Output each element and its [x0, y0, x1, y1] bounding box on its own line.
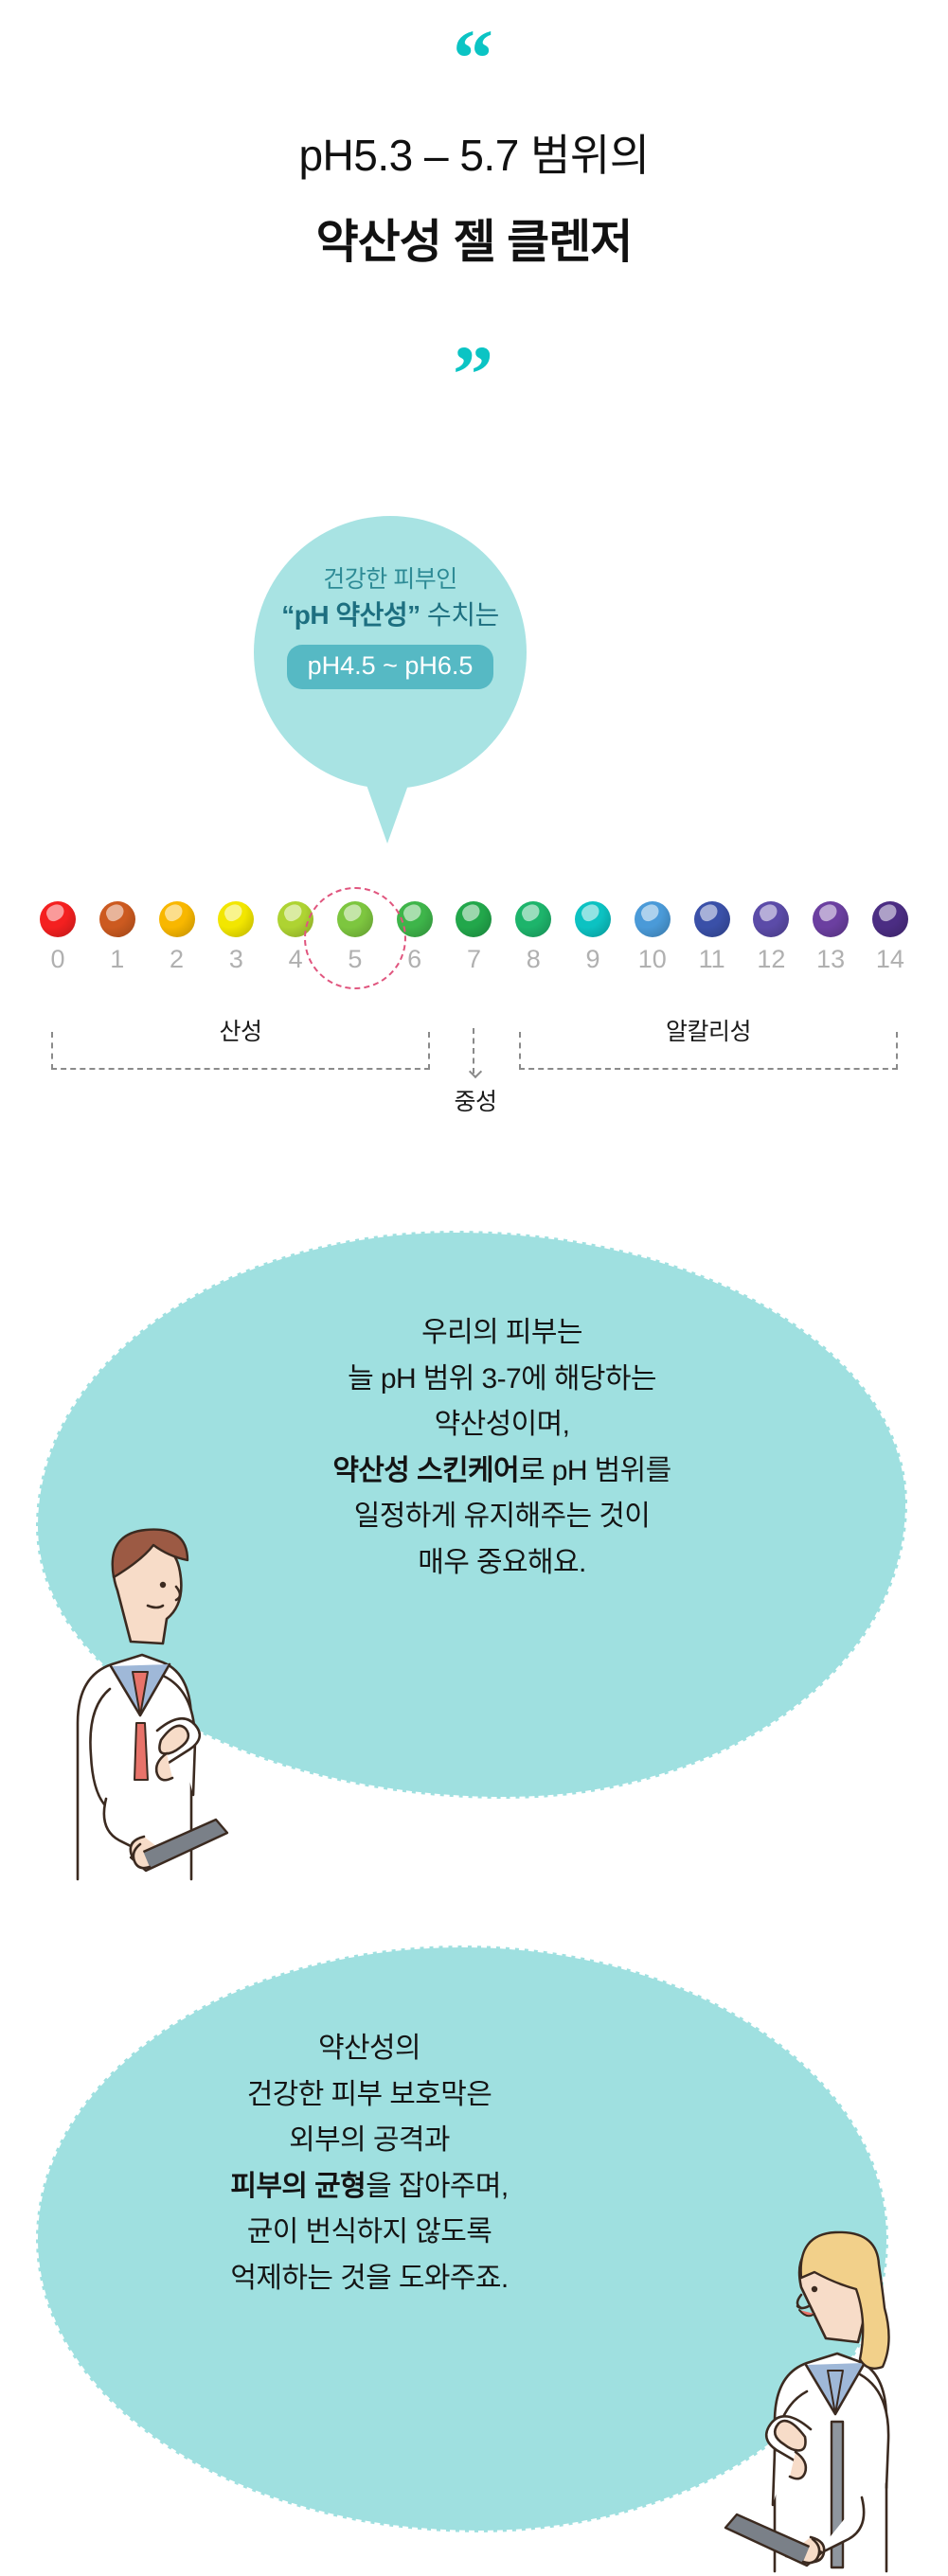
male-doctor-illustration: [19, 1486, 237, 1884]
quote-close-icon: ”: [0, 333, 948, 415]
blob2-line4-rest: 을 잡아주며,: [366, 2171, 508, 2202]
blob2-line5: 균이 번식하지 않도록: [104, 2210, 635, 2256]
blob2-line4-bold: 피부의 균형: [230, 2171, 366, 2202]
ph-ball-13: [813, 901, 849, 937]
blob1-line6: 매우 중요해요.: [218, 1540, 786, 1587]
ph-ball-label-6: 6: [389, 947, 440, 972]
ph-ball-0: [40, 901, 76, 937]
female-doctor-illustration: [701, 2196, 928, 2575]
ph-ball-label-0: 0: [32, 947, 83, 972]
bracket-label-neutral: 중성: [428, 1083, 523, 1117]
ph-range-bubble: 건강한 피부인 “pH 약산성” 수치는 pH4.5 ~ pH6.5: [254, 516, 527, 789]
ph-ball-14: [872, 901, 908, 937]
ph-scale-item-9: 9: [567, 901, 618, 972]
ph-ball-label-10: 10: [627, 947, 678, 972]
page-title-line2-text: 약산성 젤 클렌저: [316, 217, 633, 268]
blob1-line1: 우리의 피부는: [218, 1310, 786, 1357]
blob1-line4-rest: 로 pH 범위를: [519, 1455, 671, 1486]
ph-ball-6: [397, 901, 433, 937]
ph-ball-label-7: 7: [448, 947, 499, 972]
ph-ball-8: [515, 901, 551, 937]
ph-ball-label-11: 11: [687, 947, 738, 972]
bracket-alkaline: 알칼리성: [519, 1032, 898, 1070]
ph-range-pill: pH4.5 ~ pH6.5: [287, 645, 494, 689]
blob2-line1: 약산성의: [104, 2026, 635, 2072]
header-section: “ pH5.3 – 5.7 범위의 약산성 젤 클렌저 ”: [0, 0, 948, 445]
bracket-label-alkaline: 알칼리성: [521, 1021, 896, 1044]
info-blob-skin-ph-text: 우리의 피부는 늘 pH 범위 3-7에 해당하는 약산성이며, 약산성 스킨케…: [218, 1310, 786, 1587]
blob2-line2: 건강한 피부 보호막은: [104, 2072, 635, 2119]
ph-ball-label-3: 3: [210, 947, 261, 972]
ph-ball-1: [99, 901, 135, 937]
ph-ball-2: [159, 901, 195, 937]
page-title-line1: pH5.3 – 5.7 범위의: [0, 121, 948, 184]
ph-scale-item-4: 4: [270, 901, 321, 972]
ph-bubble-suffix: 수치는: [420, 600, 499, 630]
ph-bubble-line1: 건강한 피부인: [254, 565, 527, 595]
ph-ball-5: [337, 901, 373, 937]
blob1-line4-bold: 약산성 스킨케어: [332, 1455, 519, 1486]
ph-ball-7: [456, 901, 492, 937]
ph-ball-label-4: 4: [270, 947, 321, 972]
bracket-acidic: 산성: [51, 1032, 430, 1070]
ph-ball-12: [753, 901, 789, 937]
ph-ball-label-12: 12: [745, 947, 796, 972]
ph-scale-item-14: 14: [865, 901, 916, 972]
ph-ball-10: [635, 901, 671, 937]
ph-scale-item-7: 7: [448, 901, 499, 972]
ph-scale-item-5: 5: [330, 901, 381, 972]
blob1-line5: 일정하게 유지해주는 것이: [218, 1494, 786, 1540]
ph-ball-label-13: 13: [805, 947, 856, 972]
ph-scale-item-3: 3: [210, 901, 261, 972]
ph-scale-item-0: 0: [32, 901, 83, 972]
blob1-line4: 약산성 스킨케어로 pH 범위를: [218, 1448, 786, 1495]
ph-scale-chart: 01234567891011121314 산성 중성 알칼리성: [32, 901, 916, 1138]
info-blob-barrier-text: 약산성의 건강한 피부 보호막은 외부의 공격과 피부의 균형을 잡아주며, 균…: [104, 2026, 635, 2302]
ph-scale-item-10: 10: [627, 901, 678, 972]
blob2-line3: 외부의 공격과: [104, 2118, 635, 2164]
neutral-arrow-icon: [473, 1028, 474, 1074]
ph-bubble-tail: [363, 774, 412, 844]
ph-ball-label-9: 9: [567, 947, 618, 972]
ph-bracket-row: 산성 중성 알칼리성: [32, 1032, 916, 1136]
ph-scale-item-11: 11: [687, 901, 738, 972]
ph-ball-9: [575, 901, 611, 937]
ph-ball-3: [218, 901, 254, 937]
ph-bubble-line2: “pH 약산성” 수치는: [254, 598, 527, 632]
ph-scale-item-8: 8: [508, 901, 559, 972]
page-title-line2-wrapper: 약산성 젤 클렌저: [0, 204, 948, 277]
bracket-label-acidic: 산성: [53, 1021, 428, 1044]
ph-ball-label-5: 5: [330, 947, 381, 972]
blob1-line3: 약산성이며,: [218, 1402, 786, 1448]
blob1-line2: 늘 pH 범위 3-7에 해당하는: [218, 1357, 786, 1403]
ph-ball-row: 01234567891011121314: [32, 901, 916, 972]
ph-scale-item-1: 1: [92, 901, 143, 972]
ph-bubble-quoted: “pH 약산성”: [281, 600, 420, 630]
ph-ball-label-8: 8: [508, 947, 559, 972]
ph-ball-label-1: 1: [92, 947, 143, 972]
ph-ball-4: [277, 901, 313, 937]
ph-scale-item-13: 13: [805, 901, 856, 972]
ph-scale-item-2: 2: [152, 901, 203, 972]
quote-open-icon: “: [0, 17, 948, 98]
blob2-line4: 피부의 균형을 잡아주며,: [104, 2164, 635, 2211]
ph-ball-label-14: 14: [865, 947, 916, 972]
ph-ball-11: [694, 901, 730, 937]
ph-ball-label-2: 2: [152, 947, 203, 972]
ph-scale-item-12: 12: [745, 901, 796, 972]
ph-scale-item-6: 6: [389, 901, 440, 972]
blob2-line6: 억제하는 것을 도와주죠.: [104, 2256, 635, 2302]
page-title-line2: 약산성 젤 클렌저: [313, 204, 636, 277]
